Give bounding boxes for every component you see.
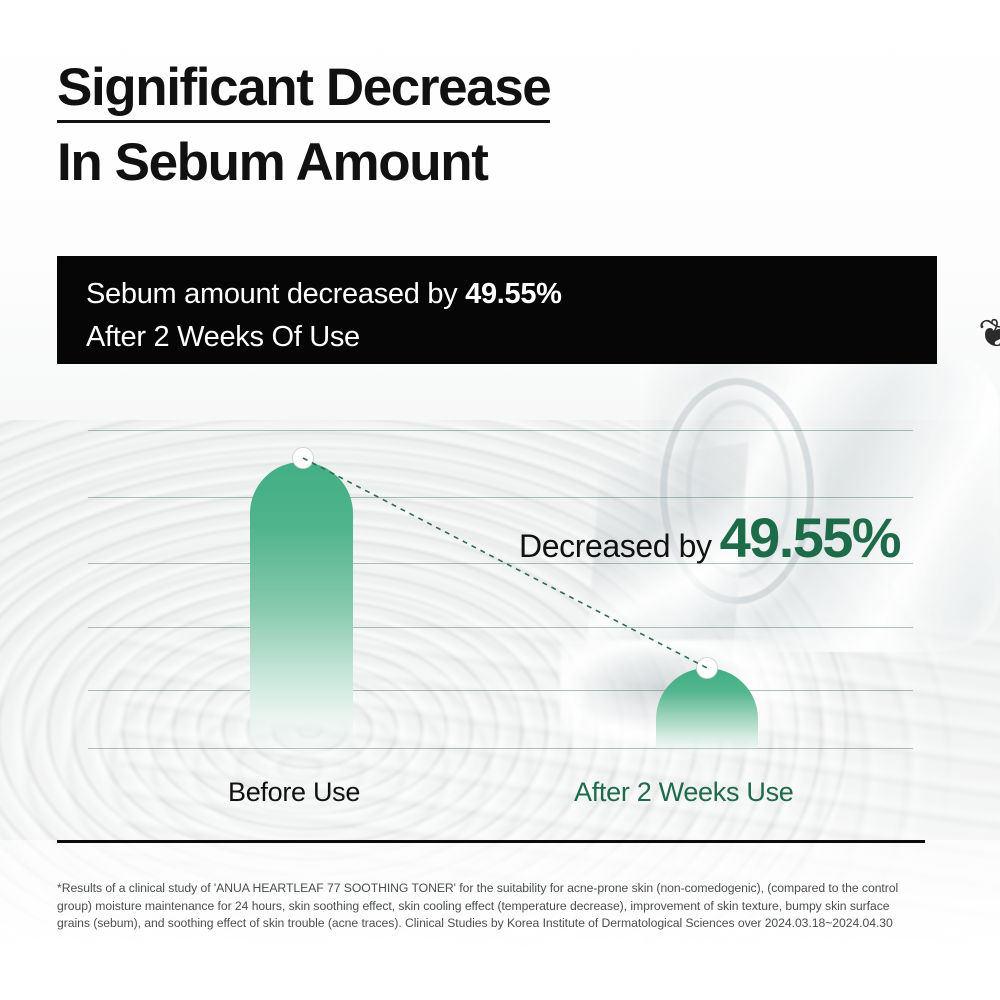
gridline-1 [88,430,913,431]
decrease-annotation: Decreased by49.55% [519,505,900,570]
sebum-bar-chart: Decreased by49.55% Before Use After 2 We… [0,0,1000,1000]
footer-divider [57,840,925,843]
decrease-annotation-label: Decreased by [519,528,712,564]
gridline-5 [88,690,913,691]
axis-label-before-use: Before Use [228,777,360,808]
footnote-text: *Results of a clinical study of 'ANUA HE… [57,880,917,933]
gridline-6 [88,748,913,749]
axis-label-after-use: After 2 Weeks Use [574,777,793,808]
infographic-canvas: ❦ Significant Decrease In Sebum Amount S… [0,0,1000,1000]
decrease-annotation-value: 49.55% [720,506,900,569]
